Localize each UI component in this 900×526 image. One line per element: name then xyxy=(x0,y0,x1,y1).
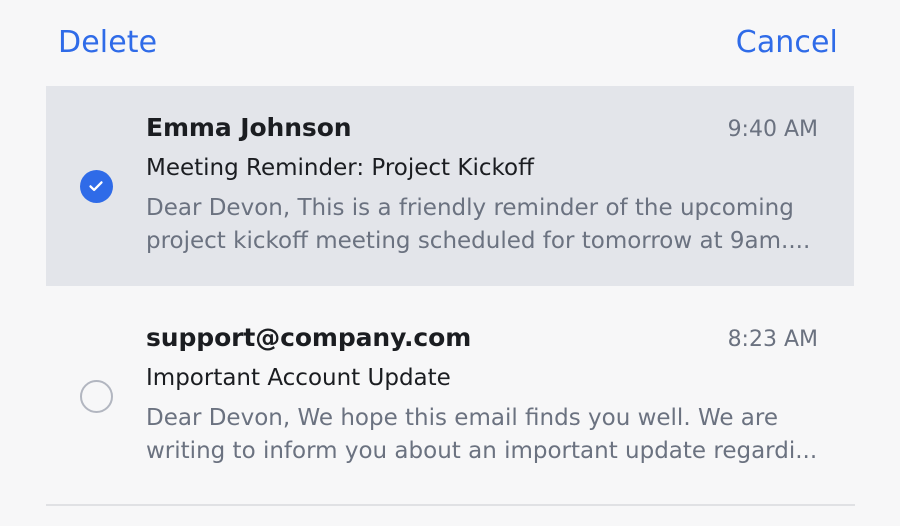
email-header-line: Emma Johnson 9:40 AM xyxy=(146,113,818,143)
email-list-item[interactable]: support@company.com 8:23 AM Important Ac… xyxy=(46,296,854,496)
email-sender: support@company.com xyxy=(146,323,471,352)
email-preview: Dear Devon, This is a friendly reminder … xyxy=(146,192,818,259)
email-timestamp: 8:23 AM xyxy=(728,327,818,353)
email-selection-screen: Delete Cancel Emma Johnson 9:40 AM Meeti… xyxy=(0,0,900,526)
selection-toolbar: Delete Cancel xyxy=(0,0,900,86)
cancel-button[interactable]: Cancel xyxy=(736,28,838,58)
delete-button[interactable]: Delete xyxy=(58,28,157,58)
email-timestamp: 9:40 AM xyxy=(728,117,818,143)
email-header-line: support@company.com 8:23 AM xyxy=(146,323,818,353)
email-content: support@company.com 8:23 AM Important Ac… xyxy=(146,323,854,468)
circle-outline-icon[interactable] xyxy=(80,380,113,413)
email-preview: Dear Devon, We hope this email finds you… xyxy=(146,402,818,469)
email-subject: Meeting Reminder: Project Kickoff xyxy=(146,155,818,182)
email-list-item[interactable]: Emma Johnson 9:40 AM Meeting Reminder: P… xyxy=(46,86,854,286)
selection-toggle[interactable] xyxy=(46,380,146,413)
email-list: Emma Johnson 9:40 AM Meeting Reminder: P… xyxy=(0,86,900,496)
email-content: Emma Johnson 9:40 AM Meeting Reminder: P… xyxy=(146,113,854,258)
list-divider xyxy=(46,504,855,506)
check-circle-filled-icon[interactable] xyxy=(80,170,113,203)
email-subject: Important Account Update xyxy=(146,365,818,392)
email-sender: Emma Johnson xyxy=(146,113,351,142)
selection-toggle[interactable] xyxy=(46,170,146,203)
